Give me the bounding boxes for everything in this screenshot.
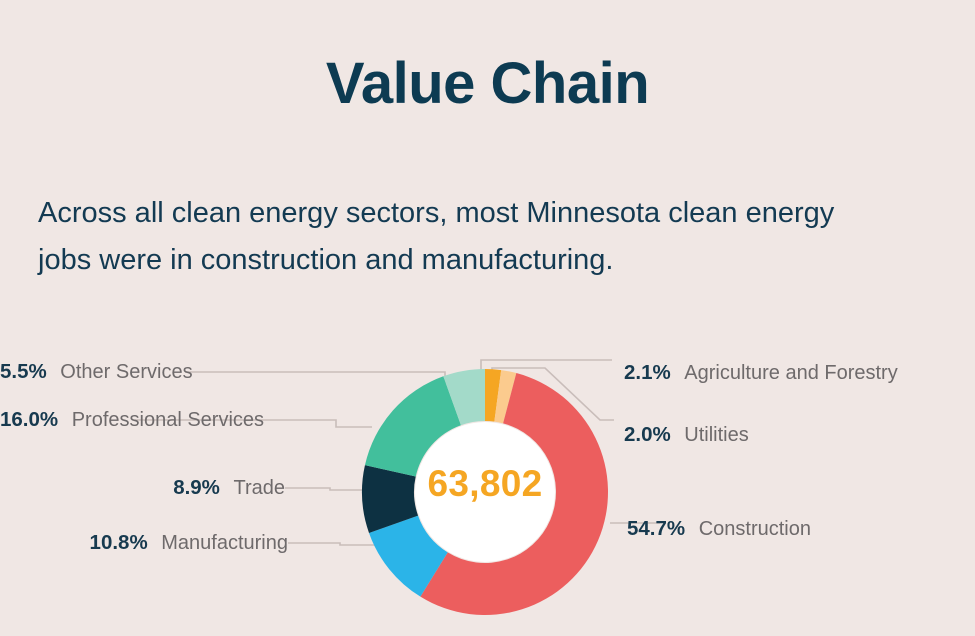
callout-agriculture-and-forestry-percent: 2.1% [624, 361, 671, 384]
callout-professional-services[interactable]: 16.0% Professional Services [0, 410, 135, 431]
callout-professional-services-percent: 16.0% [0, 408, 58, 431]
leader-line-other-services [185, 372, 445, 383]
callout-trade-label: Trade [233, 477, 285, 499]
callout-utilities-percent: 2.0% [624, 423, 671, 446]
callout-agriculture-and-forestry[interactable]: 2.1% Agriculture and Forestry [624, 363, 898, 384]
callout-manufacturing-percent: 10.8% [90, 531, 148, 554]
leader-line-trade [285, 488, 362, 490]
callout-construction-percent: 54.7% [627, 517, 685, 540]
callout-other-services-percent: 5.5% [0, 360, 47, 383]
callout-utilities-label: Utilities [684, 424, 748, 446]
callout-trade-percent: 8.9% [173, 476, 220, 499]
callout-agriculture-and-forestry-label: Agriculture and Forestry [684, 362, 897, 384]
slide-canvas: Value Chain Across all clean energy sect… [0, 0, 975, 636]
callout-construction-label: Construction [699, 518, 811, 540]
callout-other-services[interactable]: 5.5% Other Services [0, 362, 185, 383]
callout-manufacturing-label: Manufacturing [161, 532, 288, 554]
callout-trade[interactable]: 8.9% Trade [0, 478, 285, 499]
donut-total-value: 63,802 [385, 463, 585, 505]
leader-line-manufacturing [288, 543, 381, 545]
callout-manufacturing[interactable]: 10.8% Manufacturing [0, 533, 288, 554]
callout-construction[interactable]: 54.7% Construction [627, 519, 811, 540]
callout-professional-services-label: Professional Services [72, 409, 264, 431]
callout-utilities[interactable]: 2.0% Utilities [624, 425, 749, 446]
callout-other-services-label: Other Services [60, 361, 192, 383]
